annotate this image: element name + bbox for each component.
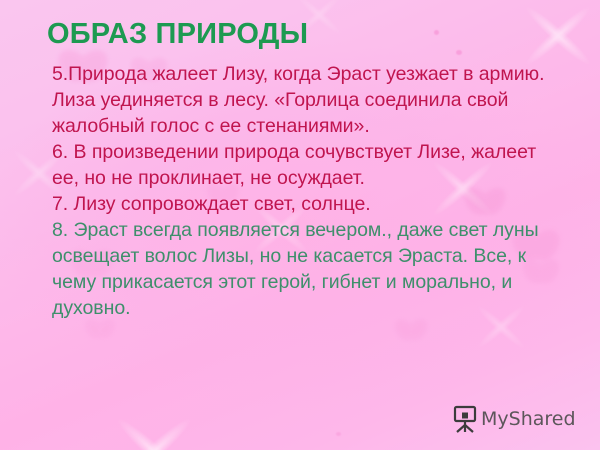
body-paragraph-5: 5.Природа жалеет Лизу, когда Эраст уезжа… [52, 61, 552, 139]
confetti-dot [456, 50, 462, 55]
confetti-dot [434, 30, 439, 35]
watermark-label: MyShared [481, 408, 576, 430]
slide-body: 5.Природа жалеет Лизу, когда Эраст уезжа… [52, 61, 552, 321]
body-paragraph-6: 6. В произведении природа сочувствует Ли… [52, 139, 552, 191]
watermark[interactable]: MyShared [452, 402, 576, 436]
body-paragraph-7: 7. Лизу сопровождает свет, солнце. [52, 191, 552, 217]
sparkle-icon [106, 404, 202, 450]
body-paragraph-8: 8. Эраст всегда появляется вечером., даж… [52, 217, 552, 321]
heart-shape [396, 318, 426, 344]
heart-shape [86, 318, 114, 342]
presentation-slide: ОБРАЗ ПРИРОДЫ 5.Природа жалеет Лизу, ког… [0, 0, 600, 450]
slide-title: ОБРАЗ ПРИРОДЫ [47, 18, 308, 51]
presentation-easel-icon [452, 405, 478, 433]
confetti-dot [336, 432, 341, 436]
